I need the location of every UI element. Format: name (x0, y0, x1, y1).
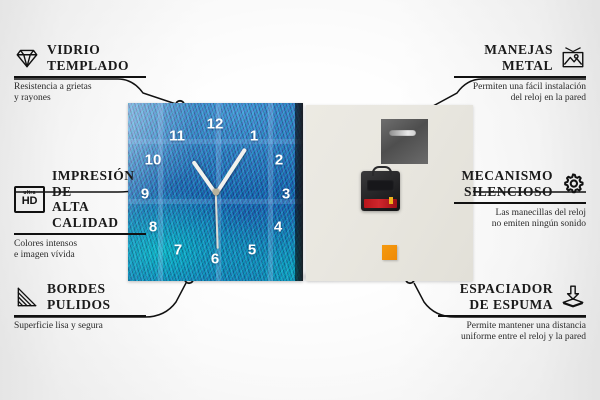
clock-numeral: 1 (250, 129, 258, 144)
clock-numeral: 3 (282, 187, 290, 202)
diamond-icon (14, 45, 40, 71)
clock-numeral: 10 (145, 153, 162, 168)
metal-hanger-plate (381, 119, 428, 164)
mechanism-hook (372, 166, 392, 176)
foam-spacer (382, 245, 397, 260)
gear-icon (560, 171, 586, 197)
battery-slot (367, 180, 394, 191)
product-image: 12 1 2 3 4 5 6 7 8 9 10 11 (128, 103, 473, 283)
clock-side-edge (295, 103, 303, 281)
feature-espaciador-espuma: ESPACIADOR DE ESPUMA Permite mantener un… (438, 281, 586, 344)
feature-title: BORDES PULIDOS (47, 281, 111, 312)
feature-subtitle: Las manecillas del reloj no emiten ningú… (454, 208, 586, 231)
clock-numeral: 12 (207, 117, 224, 132)
clock-numeral: 11 (169, 129, 185, 144)
feature-mecanismo-silencioso: MECANISMO SILENCIOSO Las manecillas del … (454, 168, 586, 231)
feature-title: MANEJAS METAL (484, 42, 553, 73)
divider (438, 315, 586, 317)
infographic-canvas: 12 1 2 3 4 5 6 7 8 9 10 11 (0, 0, 600, 400)
picture-hanger-icon (560, 45, 586, 71)
clock-numeral: 2 (275, 153, 283, 168)
feature-title: MECANISMO SILENCIOSO (462, 168, 554, 199)
polished-edge-icon (14, 284, 40, 310)
divider (454, 76, 586, 78)
divider (14, 76, 146, 78)
clock-center-hub (212, 189, 219, 196)
foam-spacer-icon (560, 284, 586, 310)
feature-title: VIDRIO TEMPLADO (47, 42, 129, 73)
clock-back-panel (306, 105, 473, 281)
feature-vidrio-templado: VIDRIO TEMPLADO Resistencia a grietas y … (14, 42, 146, 105)
feature-subtitle: Colores intensos e imagen vívida (14, 239, 146, 262)
feature-manejas-metal: MANEJAS METAL Permiten una fácil instala… (454, 42, 586, 105)
feature-title: ESPACIADOR DE ESPUMA (460, 281, 553, 312)
feature-impresion-alta-calidad: ultra HD IMPRESIÓN DE ALTA CALIDAD Color… (14, 168, 146, 262)
feature-bordes-pulidos: BORDES PULIDOS Superficie lisa y segura (14, 281, 146, 332)
clock-numeral: 4 (274, 220, 282, 235)
ultra-hd-icon: ultra HD (14, 186, 45, 213)
divider (14, 315, 146, 317)
feature-subtitle: Resistencia a grietas y rayones (14, 82, 146, 105)
ultra-hd-icon-main: HD (22, 196, 38, 207)
feature-subtitle: Superficie lisa y segura (14, 321, 146, 333)
feature-subtitle: Permiten una fácil instalación del reloj… (454, 82, 586, 105)
feature-title: IMPRESIÓN DE ALTA CALIDAD (52, 168, 146, 230)
clock-numeral: 5 (248, 243, 256, 258)
clock-numeral: 8 (149, 220, 157, 235)
divider (454, 202, 586, 204)
feature-subtitle: Permite mantener una distancia uniforme … (438, 321, 586, 344)
mechanism-label (364, 199, 397, 208)
clock-mechanism-box (361, 171, 400, 211)
clock-numeral: 7 (174, 243, 182, 258)
clock-numeral: 6 (211, 252, 219, 267)
clock-face: 12 1 2 3 4 5 6 7 8 9 10 11 (128, 103, 303, 281)
divider (14, 233, 146, 235)
